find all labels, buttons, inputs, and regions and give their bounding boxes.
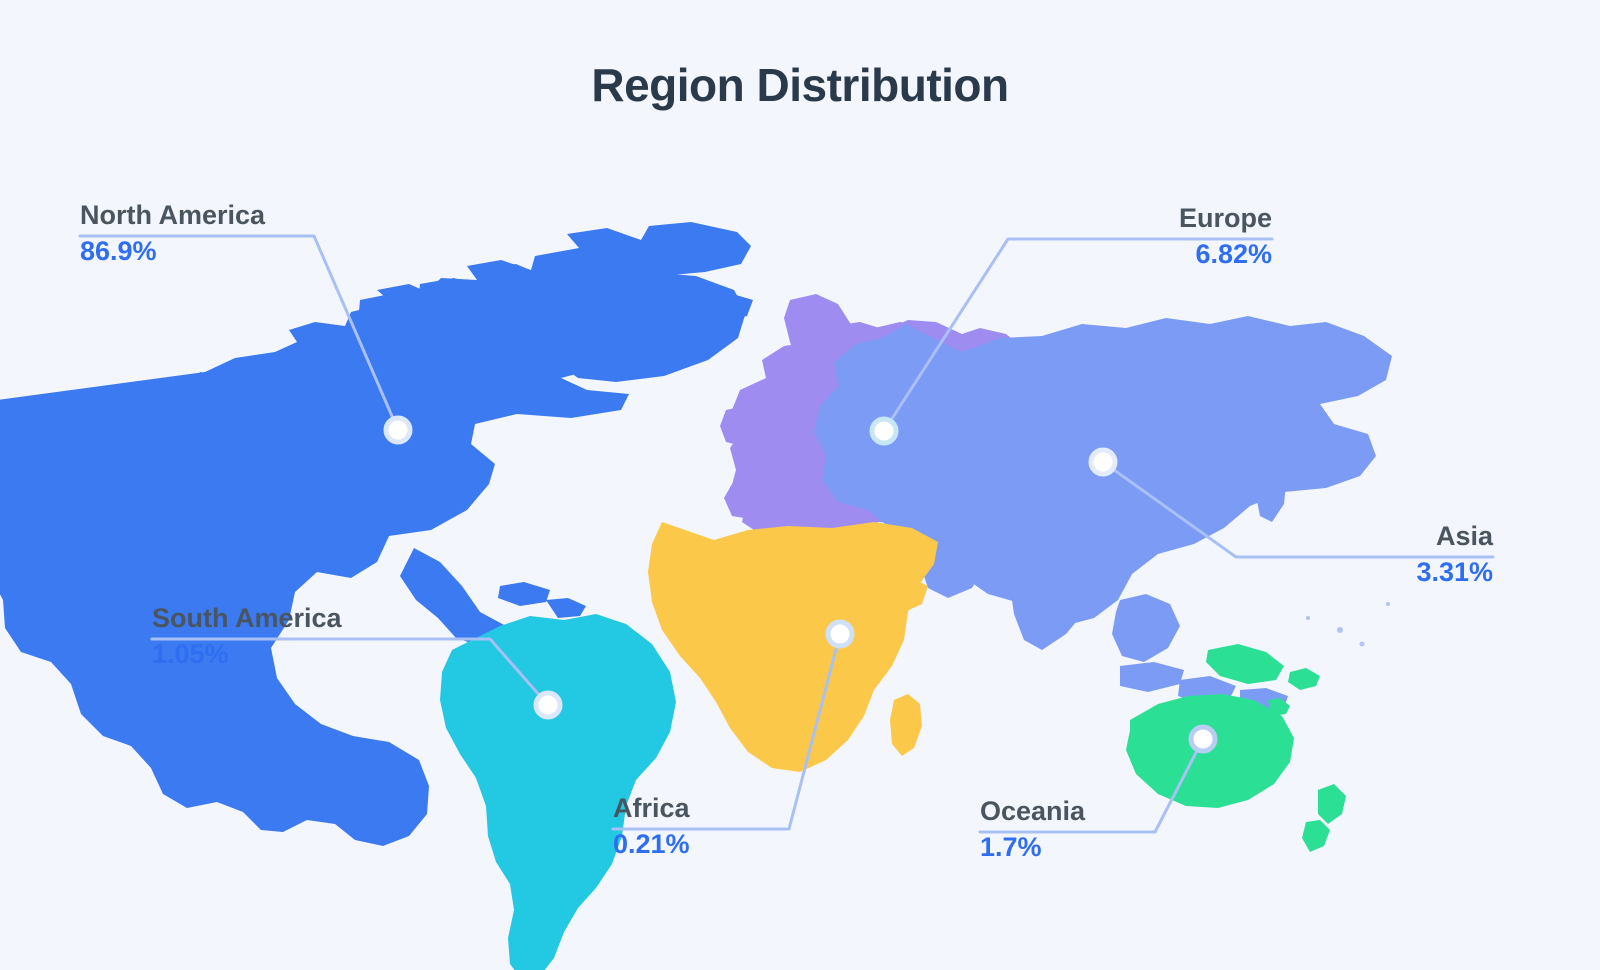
map-ocean-scatter-islands <box>1306 602 1390 647</box>
map-region-asia[interactable] <box>814 316 1392 714</box>
oceania-detail-new-guinea <box>1206 644 1284 684</box>
callout-value-north-america: 86.9% <box>80 232 265 270</box>
callout-south-america[interactable]: South America 1.05% <box>152 601 342 673</box>
asia-detail-southeast <box>1112 594 1180 662</box>
world-map <box>0 0 1600 970</box>
callout-europe[interactable]: Europe 6.82% <box>1179 201 1272 273</box>
region-distribution-map-chart: Region Distribution <box>0 0 1600 970</box>
callout-value-asia: 3.31% <box>1416 553 1493 591</box>
callout-label-europe: Europe <box>1179 201 1272 235</box>
north-america-detail-caribbean <box>498 582 586 618</box>
callout-value-oceania: 1.7% <box>980 828 1085 866</box>
callout-value-europe: 6.82% <box>1179 235 1272 273</box>
callout-value-south-america: 1.05% <box>152 635 342 673</box>
oceania-shape <box>1126 694 1294 808</box>
callout-label-africa: Africa <box>613 791 690 825</box>
oceania-detail-new-zealand <box>1302 784 1346 852</box>
callout-label-asia: Asia <box>1416 519 1493 553</box>
asia-detail-india <box>1010 556 1094 650</box>
callout-africa[interactable]: Africa 0.21% <box>613 791 690 863</box>
map-region-africa[interactable] <box>648 522 938 772</box>
callout-oceania[interactable]: Oceania 1.7% <box>980 794 1085 866</box>
callout-asia[interactable]: Asia 3.31% <box>1416 519 1493 591</box>
callout-value-africa: 0.21% <box>613 825 690 863</box>
callout-north-america[interactable]: North America 86.9% <box>80 198 265 270</box>
callout-label-oceania: Oceania <box>980 794 1085 828</box>
asia-detail-japan <box>1256 474 1286 522</box>
callout-label-south-america: South America <box>152 601 342 635</box>
callout-label-north-america: North America <box>80 198 265 232</box>
africa-detail-madagascar <box>890 694 922 756</box>
